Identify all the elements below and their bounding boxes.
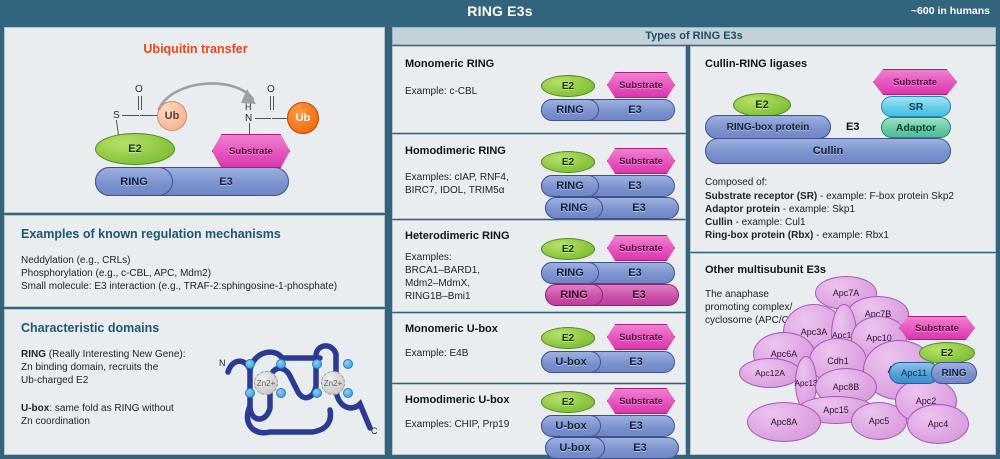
ring-def-line2: Zn binding domain, recruits the — [21, 361, 226, 374]
apcc-e2-enzyme: E2 — [919, 342, 975, 364]
transfer-arrow-icon — [155, 73, 265, 115]
atom-oxygen-amide: O — [267, 84, 275, 95]
poster-root: RING E3s ~600 in humans Ubiquitin transf… — [0, 0, 1000, 459]
cysteine-node — [312, 388, 322, 398]
bond-c-ub-right — [272, 118, 288, 119]
crl-component-rest: - example: Rbx1 — [813, 230, 889, 241]
crl-component: Adaptor protein - example: Skp1 — [705, 203, 993, 216]
e2-enzyme-main: E2 — [95, 133, 175, 165]
crl-component-term: Cullin — [705, 217, 733, 228]
cysteine-node — [245, 359, 255, 369]
row-title: Homodimeric RING — [405, 145, 506, 157]
crl-title: Cullin-RING ligases — [705, 58, 807, 70]
cullin-scaffold: Cullin — [705, 138, 951, 164]
example-line: BIRC7, IDOL, TRIM5α — [405, 184, 509, 197]
e2-enzyme: E2 — [541, 151, 595, 173]
regulation-item: Small molecule: E3 interaction (e.g., TR… — [21, 280, 373, 293]
multisubunit-e3s-panel: Other multisubunit E3s The anaphase prom… — [690, 253, 996, 455]
zinc-ion-left: Zn2+ — [254, 371, 278, 395]
ring-domain-lower: RING — [545, 197, 603, 219]
crl-substrate: Substrate — [873, 69, 957, 95]
atom-oxygen-thioester: O — [135, 84, 143, 95]
row-examples: Examples: CHIP, Prp19 — [405, 418, 509, 431]
substrate-receptor: SR — [881, 96, 951, 117]
row-title: Heterodimeric RING — [405, 230, 510, 242]
poster-header: RING E3s ~600 in humans — [0, 0, 1000, 24]
cysteine-node — [343, 388, 353, 398]
adaptor-protein: Adaptor — [881, 117, 951, 138]
ubox-definition: U-box: same fold as RING without Zn coor… — [21, 402, 226, 428]
e2-enzyme: E2 — [541, 327, 595, 349]
row-title: Homodimeric U-box — [405, 394, 510, 406]
type-row-monomeric-ubox: Monomeric U-box Example: E4B E2 Substrat… — [392, 313, 686, 383]
e2-enzyme: E2 — [541, 75, 595, 97]
ubiquitin-transfer-panel: Ubiquitin transfer O S Ub O H N Ub E2 Su… — [4, 27, 385, 213]
multisubunit-title: Other multisubunit E3s — [705, 264, 826, 276]
domains-title: Characteristic domains — [21, 321, 159, 335]
ubox-domain-lower: U-box — [545, 437, 605, 459]
crl-component-term: Substrate receptor (SR) — [705, 191, 817, 202]
crl-component-rest: - example: Cul1 — [733, 217, 806, 228]
c-terminus-label: C — [371, 426, 378, 436]
crl-composed-label: Composed of: — [705, 176, 767, 189]
apcc-ring-domain: RING — [931, 362, 977, 384]
type-row-homodimeric-ring: Homodimeric RING Examples: cIAP, RNF4, B… — [392, 134, 686, 219]
human-count-label: ~600 in humans — [911, 5, 990, 17]
substrate: Substrate — [607, 72, 675, 98]
bond-c-o-double-left — [138, 96, 139, 110]
ring-term: RING — [21, 349, 46, 360]
regulation-list: Neddylation (e.g., CRLs) Phosphorylation… — [21, 254, 373, 293]
ubox-domain: U-box — [541, 351, 601, 373]
example-line: Example: E4B — [405, 347, 468, 360]
substrate: Substrate — [607, 235, 675, 261]
ring-box-protein: RING-box protein — [705, 115, 831, 139]
crl-component: Ring-box protein (Rbx) - example: Rbx1 — [705, 229, 993, 242]
cysteine-node — [276, 359, 286, 369]
regulation-item: Phosphorylation (e.g., c-CBL, APC, Mdm2) — [21, 267, 373, 280]
e2-enzyme: E2 — [541, 238, 595, 260]
cysteine-node — [245, 388, 255, 398]
crl-component-rest: - example: F-box protein Skp2 — [817, 191, 954, 202]
row-title: Monomeric U-box — [405, 323, 498, 335]
apcc-substrate: Substrate — [899, 316, 975, 340]
crl-component-term: Adaptor protein — [705, 204, 780, 215]
ring-domain-lower: RING — [545, 284, 603, 306]
type-row-heterodimeric-ring: Heterodimeric RING Examples: BRCA1–BARD1… — [392, 220, 686, 312]
ubox-def: : same fold as RING without — [49, 403, 174, 414]
ubiquitin-transfer-title: Ubiquitin transfer — [5, 42, 386, 56]
page-title: RING E3s — [0, 3, 1000, 19]
zinc-ion-right: Zn2+ — [321, 371, 345, 395]
regulation-title: Examples of known regulation mechanisms — [21, 227, 281, 241]
crl-component-term: Ring-box protein (Rbx) — [705, 230, 813, 241]
substrate-main: Substrate — [212, 134, 290, 168]
regulation-panel: Examples of known regulation mechanisms … — [4, 215, 385, 307]
ring-domain: RING — [541, 99, 599, 121]
crl-components: Substrate receptor (SR) - example: F-box… — [705, 190, 993, 242]
example-line: Examples: CHIP, Prp19 — [405, 418, 509, 431]
row-examples: Examples: cIAP, RNF4, BIRC7, IDOL, TRIM5… — [405, 171, 509, 197]
bond-c-o-double-right — [270, 96, 271, 110]
bond-n-c — [255, 118, 271, 119]
ring-def: (Really Interesting New Gene): — [46, 349, 186, 360]
example-line: Example: c-CBL — [405, 85, 477, 98]
row-examples: Examples: BRCA1–BARD1, Mdm2–MdmX, RING1B… — [405, 251, 480, 303]
example-line: Examples: — [405, 251, 480, 264]
bond-s-c — [122, 115, 139, 116]
substrate: Substrate — [607, 148, 675, 174]
apc-subunit-apc12a: Apc12A — [739, 358, 801, 388]
regulation-item: Neddylation (e.g., CRLs) — [21, 254, 373, 267]
ubox-term: U-box — [21, 403, 49, 414]
example-line: Mdm2–MdmX, — [405, 277, 480, 290]
ring-definition: RING (Really Interesting New Gene): Zn b… — [21, 348, 226, 387]
substrate: Substrate — [607, 324, 675, 350]
cysteine-node — [312, 359, 322, 369]
crl-component: Substrate receptor (SR) - example: F-box… — [705, 190, 993, 203]
row-title: Monomeric RING — [405, 58, 494, 70]
types-banner: Types of RING E3s — [392, 27, 996, 45]
ubiquitin-amide: Ub — [287, 102, 319, 134]
ring-fold-diagram — [220, 336, 380, 448]
cullin-ring-ligases-panel: Cullin-RING ligases E2 Substrate SR Adap… — [690, 46, 996, 252]
ring-domain-main: RING — [95, 167, 173, 196]
substrate: Substrate — [607, 388, 675, 414]
ubox-domain-upper: U-box — [541, 415, 601, 437]
e2-enzyme: E2 — [541, 391, 595, 413]
crl-component-rest: - example: Skp1 — [780, 204, 855, 215]
ubox-def-line2: Zn coordination — [21, 415, 226, 428]
row-examples: Example: E4B — [405, 347, 468, 360]
apc-subunit-apc8a: Apc8A — [747, 402, 821, 442]
crl-component: Cullin - example: Cul1 — [705, 216, 993, 229]
characteristic-domains-panel: Characteristic domains RING (Really Inte… — [4, 309, 385, 455]
cysteine-node — [343, 359, 353, 369]
apc-subunit-apc4: Apc4 — [907, 404, 969, 444]
bond-c-ub-left — [140, 115, 158, 116]
cysteine-node — [276, 388, 286, 398]
example-line: Examples: cIAP, RNF4, — [405, 171, 509, 184]
crl-e2-enzyme: E2 — [733, 93, 791, 117]
apcc-desc-line: The anaphase — [705, 288, 815, 301]
ring-domain-upper: RING — [541, 262, 599, 284]
n-terminus-label: N — [219, 358, 226, 368]
example-line: RING1B–Bmi1 — [405, 290, 480, 303]
example-line: BRCA1–BARD1, — [405, 264, 480, 277]
crl-e3-label: E3 — [846, 121, 859, 134]
ring-def-line3: Ub-charged E2 — [21, 374, 226, 387]
row-examples: Example: c-CBL — [405, 85, 477, 98]
type-row-homodimeric-ubox: Homodimeric U-box Examples: CHIP, Prp19 … — [392, 384, 686, 455]
ring-domain-upper: RING — [541, 175, 599, 197]
type-row-monomeric-ring: Monomeric RING Example: c-CBL E2 Substra… — [392, 46, 686, 133]
